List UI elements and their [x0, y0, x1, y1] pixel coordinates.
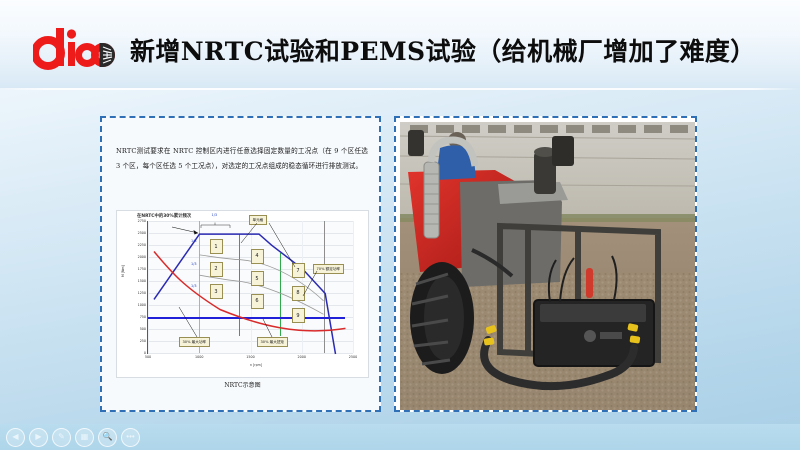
- cell-8: 8: [292, 286, 305, 301]
- header-divider: [0, 88, 800, 90]
- x-tick: 1500: [246, 355, 254, 359]
- annotation-30-max-power: 30% 最大功率: [179, 337, 210, 347]
- pen-icon[interactable]: ✎: [52, 428, 71, 447]
- x-tick: 2500: [349, 355, 357, 359]
- y-tick: 750: [140, 315, 146, 319]
- chart-plot-area: 0 250 500 750 1000 1250 1500 1750 2000 2…: [147, 221, 353, 354]
- previous-slide-icon[interactable]: ◀: [6, 428, 25, 447]
- cell-2: 2: [210, 262, 223, 277]
- cell-9: 9: [292, 308, 305, 323]
- annotation-30-max-torque: 30% 最大扭矩: [257, 337, 288, 347]
- cell-5: 5: [251, 271, 264, 286]
- y-tick: 2500: [138, 231, 146, 235]
- page-title: 新增NRTC试验和PEMS试验（给机械厂增加了难度）: [130, 32, 756, 68]
- y-tick: 1000: [138, 303, 146, 307]
- presentation-slide: 新增NRTC试验和PEMS试验（给机械厂增加了难度） NRTC测试要求在 NRT…: [0, 0, 800, 450]
- dioo-logo: [33, 26, 115, 70]
- bracket-fraction-tag: 1/3: [212, 213, 217, 217]
- more-options-icon[interactable]: •••: [121, 428, 140, 447]
- fraction-tag: 1/3: [191, 262, 196, 266]
- pems-tractor-photo: [400, 122, 695, 410]
- y-tick: 500: [140, 327, 146, 331]
- nrtc-chart: 在NRTC中的30%累计频次 M [Nm] n [rpm] 0 250 500 …: [116, 210, 369, 378]
- chart-x-axis-label: n [rpm]: [250, 363, 262, 367]
- fraction-tag: 1/3: [191, 239, 196, 243]
- right-photo-panel: [394, 116, 697, 412]
- chart-caption: NRTC示意图: [102, 380, 383, 389]
- y-tick: 1250: [138, 291, 146, 295]
- cell-1: 1: [210, 239, 223, 254]
- fraction-tag: 1/3: [191, 284, 196, 288]
- slide-grid-icon[interactable]: ▦: [75, 428, 94, 447]
- cell-7: 7: [292, 263, 305, 278]
- cell-3: 3: [210, 284, 223, 299]
- cell-4: 4: [251, 249, 264, 264]
- slideshow-toolbar[interactable]: ◀ ▶ ✎ ▦ 🔍 •••: [0, 424, 800, 450]
- x-tick: 1000: [195, 355, 203, 359]
- annotation-unit-cell: 单元格: [249, 215, 267, 225]
- chart-curves: [148, 221, 354, 354]
- next-slide-icon[interactable]: ▶: [29, 428, 48, 447]
- zoom-icon[interactable]: 🔍: [98, 428, 117, 447]
- y-tick: 2250: [138, 243, 146, 247]
- x-tick: 2000: [298, 355, 306, 359]
- y-tick: 2000: [138, 255, 146, 259]
- slide-header: 新增NRTC试验和PEMS试验（给机械厂增加了难度）: [0, 0, 800, 88]
- y-tick: 250: [140, 339, 146, 343]
- y-tick: 1500: [138, 279, 146, 283]
- cell-6: 6: [251, 294, 264, 309]
- chart-y-axis-label: M [Nm]: [121, 265, 125, 277]
- y-tick: 1750: [138, 267, 146, 271]
- nrtc-description-text: NRTC测试要求在 NRTC 控制区内进行任意选择固定数量的工况点（在 9 个区…: [116, 144, 368, 175]
- x-tick: 500: [145, 355, 151, 359]
- annotation-70-rated-power: 70% 额定功率: [313, 264, 344, 274]
- left-content-panel: NRTC测试要求在 NRTC 控制区内进行任意选择固定数量的工况点（在 9 个区…: [100, 116, 381, 412]
- y-tick: 2750: [138, 219, 146, 223]
